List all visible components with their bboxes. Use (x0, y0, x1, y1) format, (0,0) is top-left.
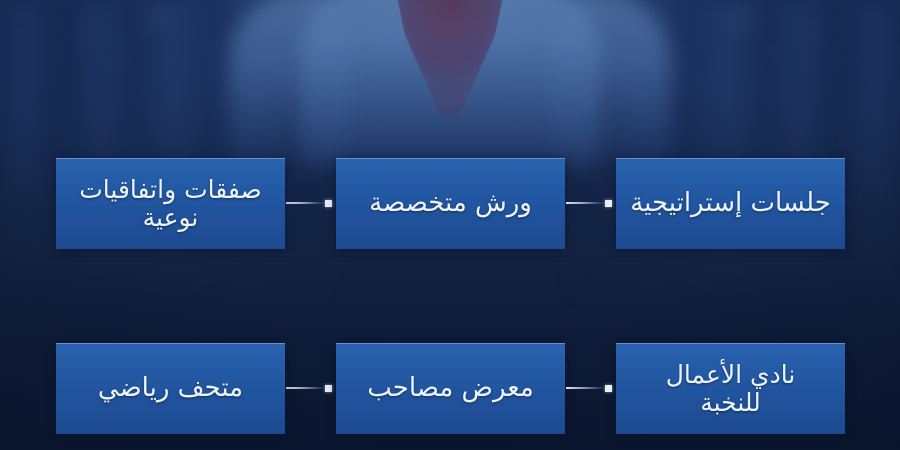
node-label: نادي الأعمال للنخبة (666, 361, 796, 417)
node-specialized-workshops[interactable]: ورش متخصصة (336, 158, 565, 249)
node-label: معرض مصاحب (367, 374, 534, 403)
connector-line-icon (286, 387, 325, 389)
connector-top-1 (566, 198, 612, 208)
pillars-diagram: جلسات إستراتيجية ورش متخصصة صفقات واتفاق… (0, 0, 900, 450)
node-label: جلسات إستراتيجية (630, 189, 831, 218)
connector-bottom-2 (286, 383, 332, 393)
connector-bottom-1 (566, 383, 612, 393)
node-sports-museum[interactable]: متحف رياضي (56, 343, 285, 434)
connector-line-icon (566, 387, 605, 389)
connector-dot-icon (605, 385, 612, 392)
connector-line-icon (286, 202, 325, 204)
connector-line-icon (566, 202, 605, 204)
node-label: متحف رياضي (98, 374, 243, 403)
connector-dot-icon (605, 200, 612, 207)
node-accompanying-exhibition[interactable]: معرض مصاحب (336, 343, 565, 434)
node-quality-deals-agreements[interactable]: صفقات واتفاقيات نوعية (56, 158, 285, 249)
connector-dot-icon (325, 385, 332, 392)
node-elite-business-club[interactable]: نادي الأعمال للنخبة (616, 343, 845, 434)
slide-canvas: جلسات إستراتيجية ورش متخصصة صفقات واتفاق… (0, 0, 900, 450)
node-label: صفقات واتفاقيات نوعية (79, 176, 262, 232)
connector-top-2 (286, 198, 332, 208)
diagram-row-bottom: نادي الأعمال للنخبة معرض مصاحب متحف رياض… (0, 343, 900, 434)
node-label: ورش متخصصة (369, 189, 532, 218)
connector-dot-icon (325, 200, 332, 207)
diagram-row-top: جلسات إستراتيجية ورش متخصصة صفقات واتفاق… (0, 158, 900, 249)
node-strategic-sessions[interactable]: جلسات إستراتيجية (616, 158, 845, 249)
